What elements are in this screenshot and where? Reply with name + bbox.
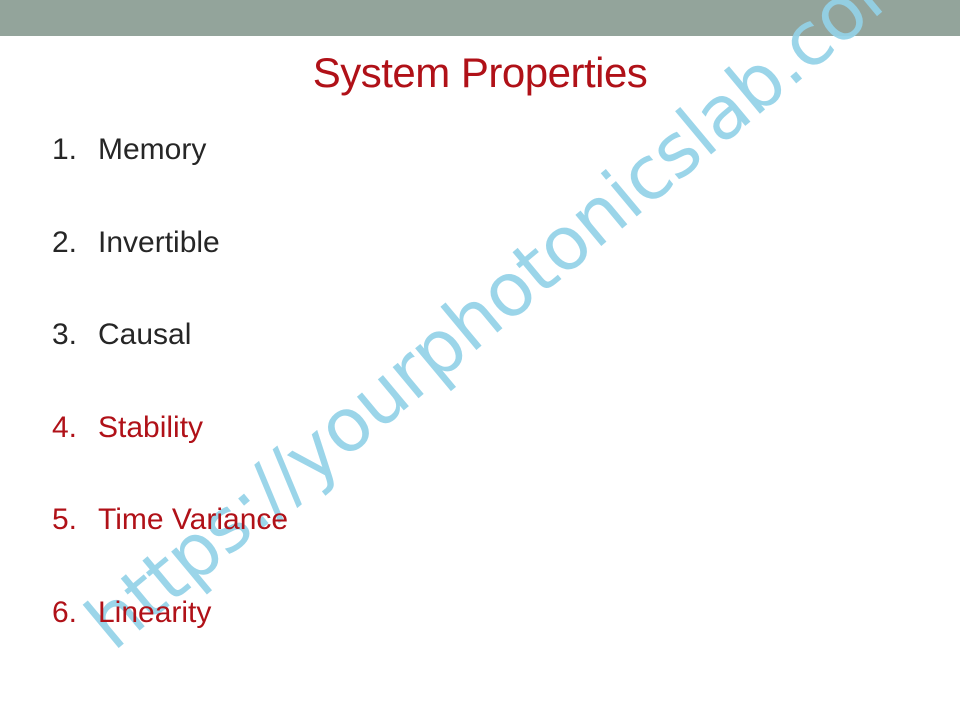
list-item-label: Memory [98, 131, 206, 169]
list-item-label: Stability [98, 409, 203, 447]
list-item[interactable]: 1. Memory [52, 131, 692, 224]
list-item-number: 2. [52, 224, 98, 262]
list-item[interactable]: 2. Invertible [52, 224, 692, 317]
list-item[interactable]: 5. Time Variance [52, 501, 692, 594]
list-item-label: Causal [98, 316, 191, 354]
list-item[interactable]: 4. Stability [52, 409, 692, 502]
properties-list: 1. Memory 2. Invertible 3. Causal 4. Sta… [52, 131, 692, 686]
list-item[interactable]: 6. Linearity [52, 594, 692, 687]
list-item-label: Invertible [98, 224, 220, 262]
list-item[interactable]: 3. Causal [52, 316, 692, 409]
list-item-number: 3. [52, 316, 98, 354]
page-title: System Properties [0, 48, 960, 98]
top-decorative-band [0, 0, 960, 36]
list-item-label: Linearity [98, 594, 211, 632]
list-item-number: 6. [52, 594, 98, 632]
list-item-number: 5. [52, 501, 98, 539]
slide-canvas: https://yourphotonicslab.com System Prop… [0, 0, 960, 720]
list-item-number: 1. [52, 131, 98, 169]
list-item-number: 4. [52, 409, 98, 447]
list-item-label: Time Variance [98, 501, 288, 539]
